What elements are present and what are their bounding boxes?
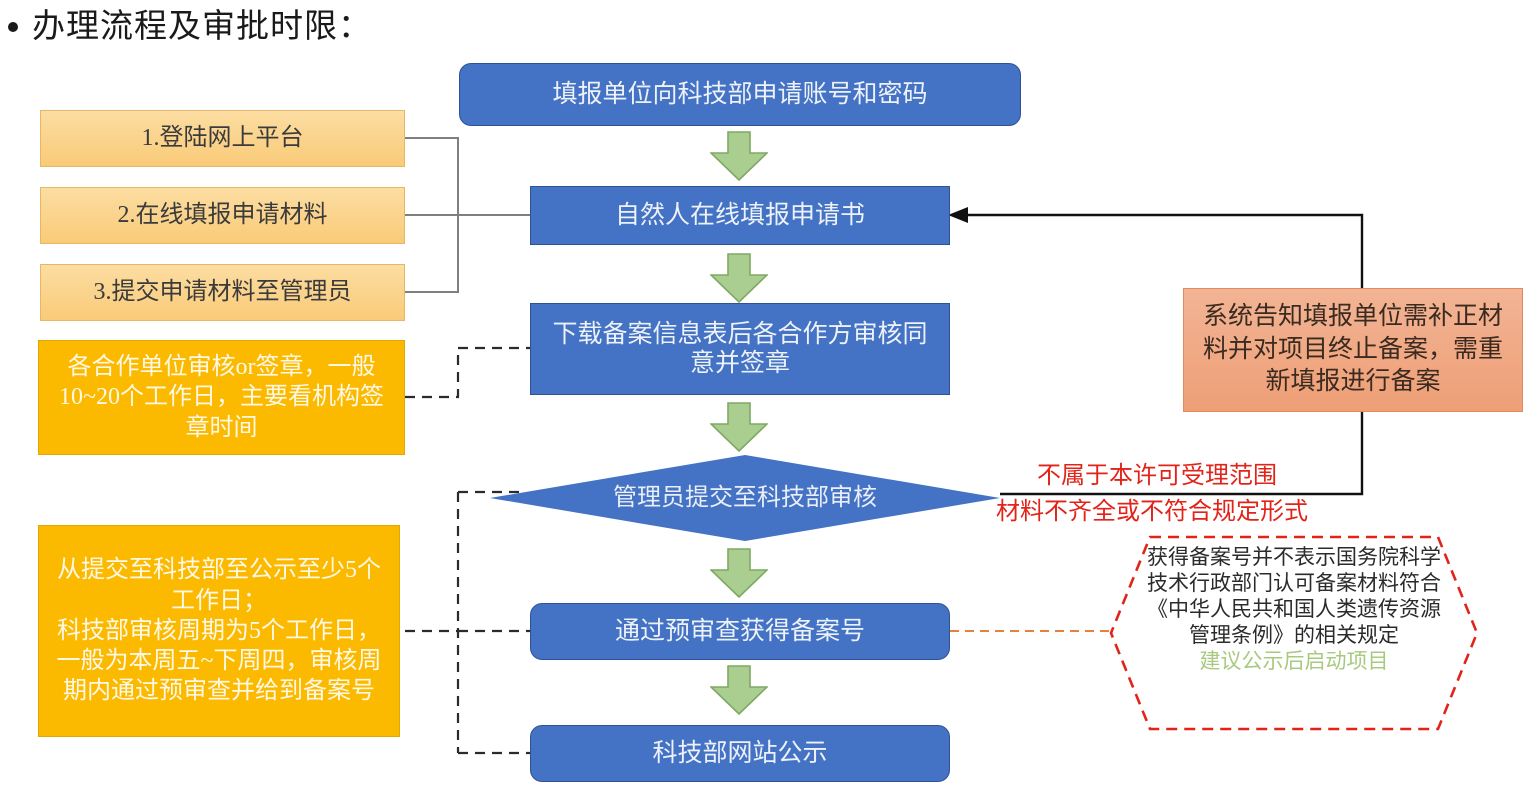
note-publicity-body-text: 获得备案号并不表示国务院科学技术行政部门认可备案材料符合《中华人民共和国人类遗传…	[1147, 545, 1441, 647]
note-publicity-highlight: 建议公示后启动项目	[1138, 648, 1450, 674]
note-partner-review[interactable]: 各合作单位审核or签章，一般10~20个工作日，主要看机构签章时间	[38, 340, 405, 455]
flow-step-publicity[interactable]: 科技部网站公示	[530, 725, 950, 782]
left-step-3-label: 3.提交申请材料至管理员	[94, 278, 352, 306]
reject-reason-2: 材料不齐全或不符合规定形式	[996, 499, 1308, 525]
flowchart-canvas: 办理流程及审批时限： 1.登陆网上平台 2.在线填报申请材料 3.提交申请材料至…	[0, 0, 1539, 787]
flow-step-download-sign-label: 下载备案信息表后各合作方审核同意并签章	[545, 320, 935, 379]
flow-step-record-number[interactable]: 通过预审查获得备案号	[530, 603, 950, 660]
flow-step-publicity-label: 科技部网站公示	[652, 739, 827, 769]
arrow-down-icon-1	[710, 131, 768, 181]
flow-step-apply-account-label: 填报单位向科技部申请账号和密码	[552, 80, 927, 110]
left-step-1-label: 1.登陆网上平台	[142, 124, 304, 152]
arrow-down-icon-2	[710, 253, 768, 303]
arrow-down-icon-5	[710, 665, 768, 715]
flow-step-admin-submit-label: 管理员提交至科技部审核	[490, 455, 1000, 541]
flow-step-download-sign[interactable]: 下载备案信息表后各合作方审核同意并签章	[530, 303, 950, 395]
note-publicity-disclaimer[interactable]: 获得备案号并不表示国务院科学技术行政部门认可备案材料符合《中华人民共和国人类遗传…	[1108, 534, 1480, 732]
left-step-1[interactable]: 1.登陆网上平台	[40, 110, 405, 167]
arrow-down-icon-4	[710, 548, 768, 598]
left-step-2-label: 2.在线填报申请材料	[118, 201, 328, 229]
note-reject-label: 系统告知填报单位需补正材料并对项目终止备案，需重新填报进行备案	[1194, 301, 1512, 399]
note-reject[interactable]: 系统告知填报单位需补正材料并对项目终止备案，需重新填报进行备案	[1183, 288, 1523, 412]
left-step-3[interactable]: 3.提交申请材料至管理员	[40, 264, 405, 321]
flow-step-apply-account[interactable]: 填报单位向科技部申请账号和密码	[459, 63, 1021, 126]
bullet-icon	[8, 22, 18, 32]
note-timeline-label: 从提交至科技部至公示至少5个工作日； 科技部审核周期为5个工作日，一般为本周五~…	[49, 555, 389, 706]
note-partner-review-label: 各合作单位审核or签章，一般10~20个工作日，主要看机构签章时间	[51, 352, 392, 443]
arrow-down-icon-3	[710, 402, 768, 452]
flow-step-record-number-label: 通过预审查获得备案号	[615, 617, 865, 647]
note-publicity-body: 获得备案号并不表示国务院科学技术行政部门认可备案材料符合《中华人民共和国人类遗传…	[1138, 544, 1450, 674]
left-step-2[interactable]: 2.在线填报申请材料	[40, 187, 405, 244]
page-title-text: 办理流程及审批时限：	[32, 11, 372, 44]
page-title: 办理流程及审批时限：	[8, 4, 708, 50]
flow-step-online-form-label: 自然人在线填报申请书	[615, 201, 865, 231]
flow-step-online-form[interactable]: 自然人在线填报申请书	[530, 186, 950, 245]
reject-reason-1: 不属于本许可受理范围	[1037, 463, 1277, 489]
flow-step-admin-submit[interactable]: 管理员提交至科技部审核	[490, 455, 1000, 541]
note-timeline[interactable]: 从提交至科技部至公示至少5个工作日； 科技部审核周期为5个工作日，一般为本周五~…	[38, 525, 400, 737]
